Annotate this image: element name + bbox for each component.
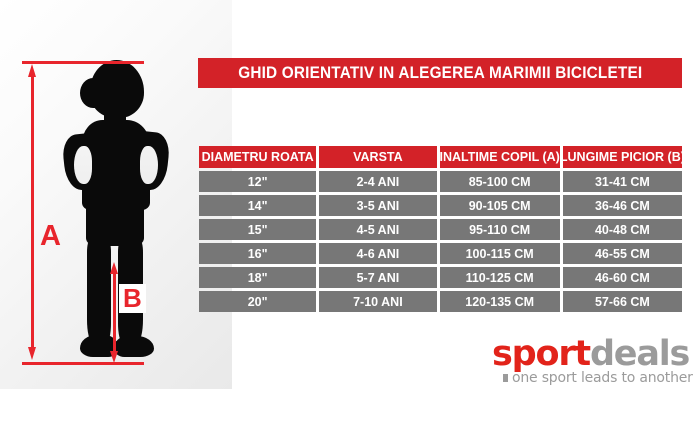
page-title: GHID ORIENTATIV IN ALEGEREA MARIMII BICI… [238, 64, 642, 83]
cell-age: 5-7 ANI [319, 267, 436, 288]
cell-age: 4-6 ANI [319, 243, 436, 264]
arrow-down-head-icon [110, 351, 118, 363]
silhouette-face-profile [80, 78, 102, 108]
cell-wheel-diameter: 12" [199, 171, 316, 192]
cell-leg-length: 46-60 CM [563, 267, 682, 288]
table-row: 16" 4-6 ANI 100-115 CM 46-55 CM [199, 243, 682, 264]
table-row: 15" 4-5 ANI 95-110 CM 40-48 CM [199, 219, 682, 240]
cell-wheel-diameter: 16" [199, 243, 316, 264]
column-header-wheel-diameter: DIAMETRU ROATA [199, 146, 316, 168]
silhouette-left-arm-gap [74, 146, 92, 184]
cell-child-height: 90-105 CM [440, 195, 560, 216]
size-guide-infographic: A B GHID ORIENTATIV IN ALEGEREA MARIMII … [0, 0, 700, 425]
logo-wordmark: sportdeals [492, 337, 689, 372]
cell-child-height: 110-125 CM [440, 267, 560, 288]
height-measure-arrow-a [28, 64, 37, 360]
table-row: 18" 5-7 ANI 110-125 CM 46-60 CM [199, 267, 682, 288]
cell-leg-length: 36-46 CM [563, 195, 682, 216]
cell-age: 7-10 ANI [319, 291, 436, 312]
cell-age: 3-5 ANI [319, 195, 436, 216]
measure-top-guide-line [22, 61, 144, 64]
cell-child-height: 85-100 CM [440, 171, 560, 192]
cell-child-height: 120-135 CM [440, 291, 560, 312]
table-row: 14" 3-5 ANI 90-105 CM 36-46 CM [199, 195, 682, 216]
cell-age: 2-4 ANI [319, 171, 436, 192]
cell-age: 4-5 ANI [319, 219, 436, 240]
inseam-measure-arrow-b [110, 262, 119, 363]
size-guide-table: DIAMETRU ROATA VARSTA INALTIME COPIL (A)… [199, 146, 682, 315]
table-row: 20" 7-10 ANI 120-135 CM 57-66 CM [199, 291, 682, 312]
logo-word-deals: deals [590, 334, 689, 374]
arrow-shaft [31, 74, 34, 350]
column-header-child-height: INALTIME COPIL (A) [440, 146, 560, 168]
cell-leg-length: 40-48 CM [563, 219, 682, 240]
cell-leg-length: 31-41 CM [563, 171, 682, 192]
arrow-down-head-icon [28, 347, 36, 360]
cell-leg-length: 57-66 CM [563, 291, 682, 312]
silhouette-left-leg [87, 240, 111, 342]
table-row: 12" 2-4 ANI 85-100 CM 31-41 CM [199, 171, 682, 192]
brand-logo[interactable]: sportdeals one sport leads to another [492, 337, 684, 387]
cell-leg-length: 46-55 CM [563, 243, 682, 264]
logo-tagline: one sport leads to another [512, 370, 693, 386]
measure-label-b: B [119, 284, 146, 313]
logo-tagline-row: one sport leads to another [503, 370, 693, 386]
cell-wheel-diameter: 20" [199, 291, 316, 312]
silhouette-right-shoe [114, 336, 154, 357]
silhouette-right-arm-gap [140, 146, 158, 184]
square-bullet-icon [503, 374, 508, 382]
measure-label-a: A [40, 222, 61, 251]
cell-child-height: 95-110 CM [440, 219, 560, 240]
cell-wheel-diameter: 14" [199, 195, 316, 216]
logo-word-sport: sport [492, 334, 590, 374]
cell-wheel-diameter: 18" [199, 267, 316, 288]
title-banner: GHID ORIENTATIV IN ALEGEREA MARIMII BICI… [198, 58, 682, 88]
column-header-age: VARSTA [319, 146, 436, 168]
arrow-shaft [113, 271, 116, 354]
column-header-leg-length: LUNGIME PICIOR (B) [563, 146, 682, 168]
cell-wheel-diameter: 15" [199, 219, 316, 240]
cell-child-height: 100-115 CM [440, 243, 560, 264]
table-header-row: DIAMETRU ROATA VARSTA INALTIME COPIL (A)… [199, 146, 682, 168]
measure-bottom-guide-line [22, 362, 144, 365]
